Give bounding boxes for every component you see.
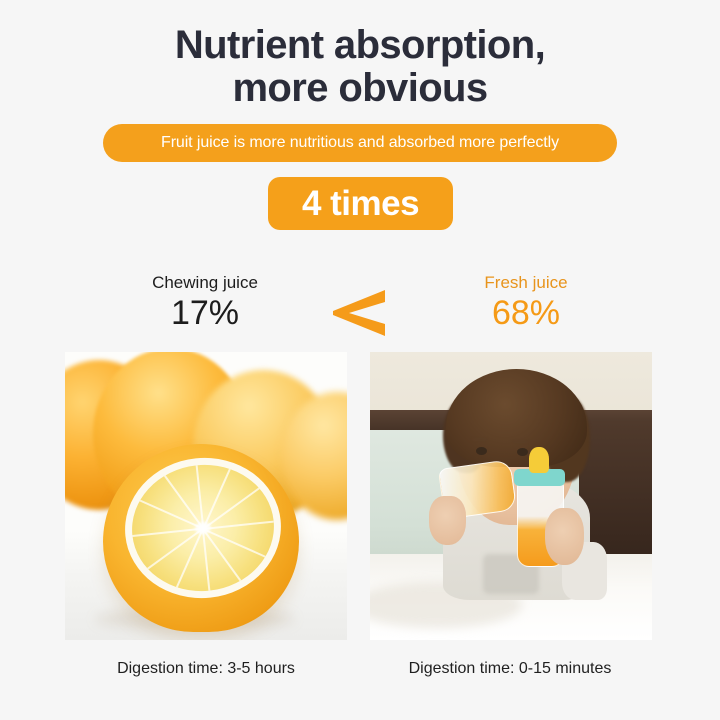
orange-half-core <box>194 521 211 535</box>
infographic-page: Nutrient absorption, more obvious Fruit … <box>0 0 720 720</box>
subtitle-banner-text: Fruit juice is more nutritious and absor… <box>161 134 559 152</box>
subtitle-banner: Fruit juice is more nutritious and absor… <box>103 124 617 162</box>
juice-bottle-spout <box>529 447 549 473</box>
photo-toddler <box>370 352 652 640</box>
child-eye-left <box>476 447 487 455</box>
child-right-hand <box>545 508 584 566</box>
multiplier-badge-text: 4 times <box>302 186 419 221</box>
orange-half-pith <box>118 450 288 606</box>
stat-fresh-juice-label: Fresh juice <box>406 272 646 293</box>
less-than-icon <box>329 288 391 338</box>
child-left-hand <box>429 496 466 545</box>
stat-chewing-juice: Chewing juice 17% <box>85 272 325 333</box>
page-title: Nutrient absorption, more obvious <box>0 24 720 110</box>
multiplier-badge: 4 times <box>268 177 453 230</box>
photo-oranges <box>65 352 347 640</box>
photo-oranges-inner <box>65 352 347 640</box>
page-title-line-2: more obvious <box>0 67 720 110</box>
caption-chewing-juice: Digestion time: 3-5 hours <box>56 660 356 678</box>
stat-chewing-juice-value: 17% <box>85 294 325 333</box>
page-title-line-1: Nutrient absorption, <box>0 24 720 67</box>
child-eyebrow-right <box>512 440 528 443</box>
orange-half-flesh <box>126 458 280 598</box>
orange-half <box>103 444 299 632</box>
child-eyebrow-left <box>472 438 488 441</box>
stat-chewing-juice-label: Chewing juice <box>85 272 325 293</box>
stat-fresh-juice-value: 68% <box>406 294 646 333</box>
stat-fresh-juice: Fresh juice 68% <box>406 272 646 333</box>
caption-fresh-juice: Digestion time: 0-15 minutes <box>360 660 660 678</box>
photo-toddler-inner <box>370 352 652 640</box>
